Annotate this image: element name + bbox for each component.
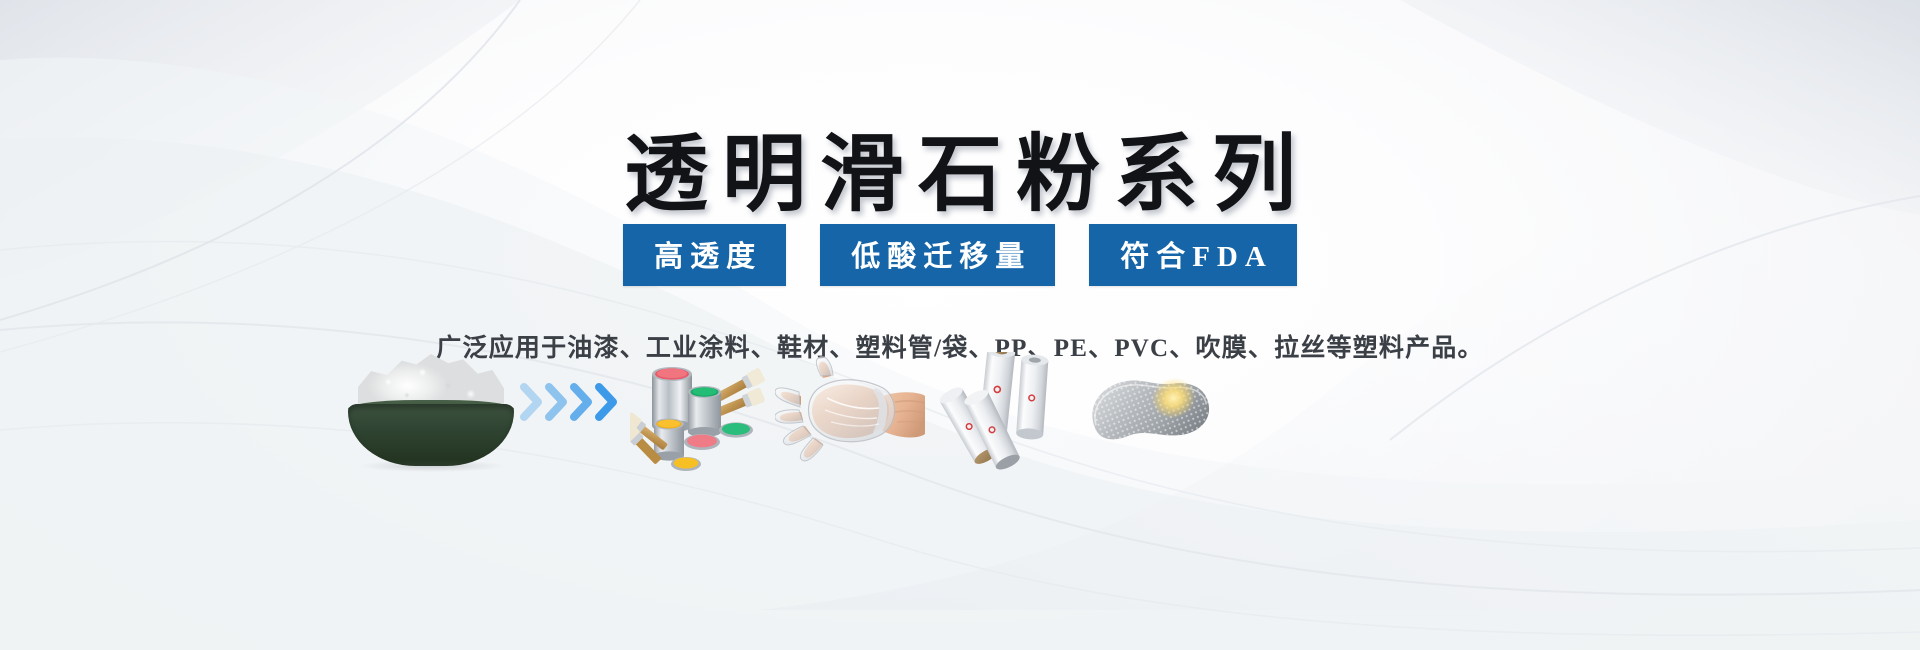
flow-arrows — [520, 352, 616, 472]
bowl-shadow — [360, 460, 504, 472]
film-rolls-illustration — [940, 352, 1080, 482]
chevron-right-icon — [520, 382, 544, 422]
bowl-body — [348, 404, 514, 466]
film-rolls — [940, 352, 1080, 482]
paint-cans — [630, 352, 770, 487]
chevron-right-icon — [595, 382, 619, 422]
glove-overlay — [775, 357, 895, 461]
chevron-right-icon — [545, 382, 569, 422]
badge-fda-compliant[interactable]: 符合FDA — [1089, 224, 1297, 286]
gloved-hand-illustration — [775, 352, 925, 472]
feature-badge-row: 高透度 低酸迁移量 符合FDA — [0, 224, 1920, 286]
chevron-right-icon — [570, 382, 594, 422]
talc-powder-bowl — [330, 352, 530, 472]
paint-can-green — [688, 386, 721, 437]
page-title: 透明滑石粉系列 — [610, 134, 1310, 218]
film-roll — [1016, 354, 1049, 440]
paint-lid-pink — [684, 434, 720, 450]
paint-cans-illustration — [630, 352, 770, 487]
shoe-sole — [1085, 352, 1215, 472]
paint-lid-yellow — [671, 457, 701, 471]
shoe-sole-illustration — [1085, 352, 1215, 472]
paint-lid-green — [719, 422, 753, 437]
badge-low-acid-migration[interactable]: 低酸迁移量 — [820, 224, 1055, 286]
badge-high-transparency[interactable]: 高透度 — [623, 224, 786, 286]
plastic-glove — [775, 352, 925, 472]
product-image-strip — [0, 352, 1920, 512]
product-banner: 透明滑石粉系列 高透度 低酸迁移量 符合FDA 广泛应用于油漆、工业涂料、鞋材、… — [0, 0, 1920, 650]
